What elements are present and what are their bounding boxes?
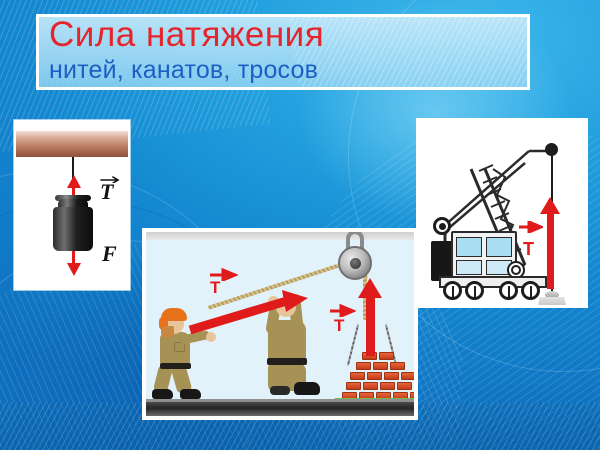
title-inner: Сила натяжения нитей, канатов, тросов [39,17,527,87]
worker2-boot-back [270,386,290,395]
crane-tension-label: T [523,239,534,260]
ceiling-beam [16,131,128,157]
brick-stack [342,340,414,400]
worker2-belt [267,358,307,365]
worker1-boot-front [180,389,201,399]
hanging-weight [53,207,93,251]
crane-bucket-load [535,297,569,305]
ground-strip [146,402,414,416]
brick [367,372,382,380]
crane-tension-arrow-shaft [547,211,554,289]
tension-label-T: T [100,179,113,205]
force-label-F: F [102,241,117,267]
tension-arrow-load-head [358,278,382,298]
worker1-beard [161,326,174,338]
crane-counterweight [431,241,453,281]
brick [401,372,414,380]
brick-row [356,362,405,370]
panel-crane: T [416,118,588,308]
crane-illustration: T [419,121,585,305]
brick [379,352,394,360]
worker1-belt [160,363,191,369]
tension-arrow-rope [186,290,316,336]
center-top-strip [146,232,414,240]
slide-canvas: Сила натяжения нитей, канатов, тросов T … [0,0,600,450]
title-box: Сила натяжения нитей, канатов, тросов [36,14,530,90]
center-scene: T T [146,232,414,416]
brick [397,382,412,390]
tension-label-rope: T [210,278,220,298]
crane-cab-window-lower-left [456,260,482,275]
brick [363,382,378,390]
worker1-cap [161,308,187,321]
brick-row [346,382,412,390]
crane-wheel [443,281,462,300]
page-subtitle: нитей, канатов, тросов [49,56,318,85]
crane-hoist-ring-inner [511,265,521,275]
brick [390,362,405,370]
worker1-boot-back [152,389,173,399]
tension-arrow-up-head [67,175,81,188]
tension-label-load: T [334,316,344,336]
brick [350,372,365,380]
crane-tension-arrow-head [540,197,560,214]
brick-row [350,372,414,380]
crane-cab-window-upper-left [456,237,482,257]
crane-drum-hub [439,223,446,230]
brick [356,362,371,370]
brick [346,382,361,390]
tension-arrow-load-shaft [366,294,375,356]
pulley-hub [350,258,361,269]
brick [384,372,399,380]
crane-wheel [521,281,540,300]
panel-hanging-weight: T F [14,120,130,290]
page-title: Сила натяжения [49,17,324,55]
crane-cab-window-upper-right [486,237,512,257]
crane-wheel [499,281,518,300]
brick [380,382,395,390]
brick [373,362,388,370]
worker2-boot-front [294,382,320,395]
crane-tension-direction-mini-arrow [517,221,543,233]
force-arrow-down-head [67,263,81,276]
crane-wheel [465,281,484,300]
panel-workers-pulley: T T [142,228,418,420]
